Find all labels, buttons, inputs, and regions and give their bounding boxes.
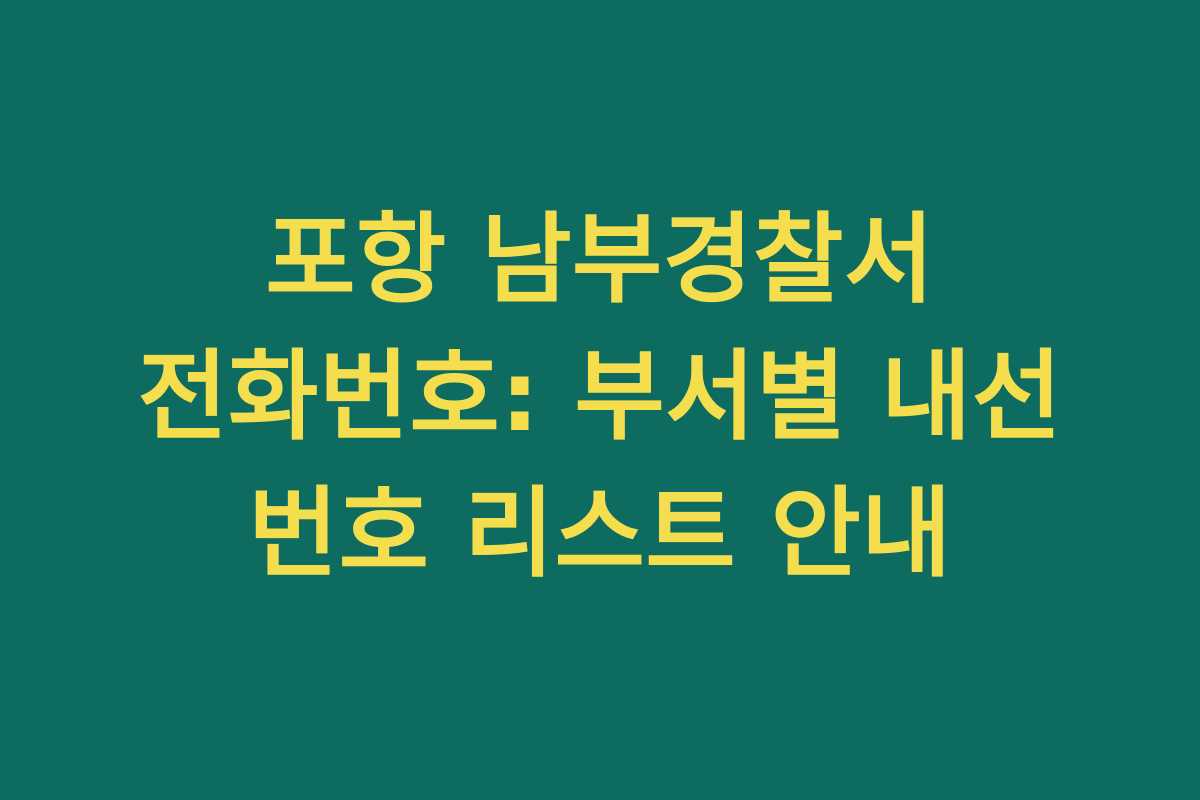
- page-title: 포항 남부경찰서 전화번호: 부서별 내선 번호 리스트 안내: [110, 192, 1090, 603]
- thumbnail-card: 포항 남부경찰서 전화번호: 부서별 내선 번호 리스트 안내: [0, 0, 1200, 800]
- headline-block: 포항 남부경찰서 전화번호: 부서별 내선 번호 리스트 안내: [100, 192, 1100, 603]
